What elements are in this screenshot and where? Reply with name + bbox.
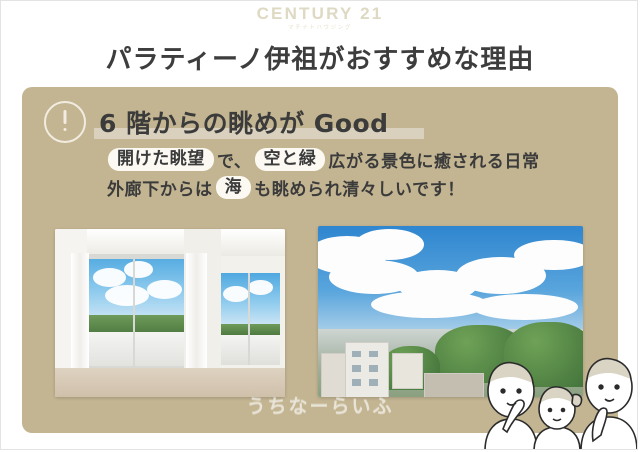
room-ceiling: [55, 229, 285, 256]
child-eye-right: [561, 408, 566, 413]
window-left: [87, 254, 184, 372]
copy-pill: 開けた眺望: [108, 148, 214, 171]
mother-figure: [581, 359, 637, 450]
brand-logo: CENTURY 21 マチナトハウジング: [1, 5, 638, 32]
cloud: [147, 280, 182, 299]
copy-text: 外廊下からは: [106, 175, 214, 200]
mother-eye-right: [614, 384, 619, 389]
card-copy: 開けた眺望で、空と緑広がる景色に癒される日常 外廊下からは海も眺められ清々しいで…: [106, 145, 541, 201]
room-floor: [55, 368, 285, 397]
copy-text: で、: [216, 147, 253, 172]
slide-frame: CENTURY 21 マチナトハウジング パラティーノ伊祖がおすすめな理由 6 …: [0, 0, 638, 450]
window-right-balcony-rail: [221, 335, 281, 365]
child-figure: [534, 387, 582, 450]
father-eye-right: [516, 388, 521, 393]
copy-pill: 空と緑: [255, 148, 326, 171]
card-headline: 6 階からの眺めが Good: [99, 104, 389, 140]
father-figure: [485, 363, 537, 450]
copy-pill: 海: [216, 176, 252, 199]
family-illustration: [481, 333, 638, 450]
cloud: [355, 229, 424, 260]
child-eye-left: [548, 408, 553, 413]
copy-text: 広がる景色に癒される日常: [327, 147, 540, 172]
window-right-trees: [221, 324, 281, 335]
cloud: [248, 280, 273, 295]
building: [392, 353, 423, 389]
building: [345, 342, 389, 397]
building: [424, 373, 484, 397]
cloud: [371, 291, 488, 318]
headline-wrap: 6 階からの眺めが Good: [99, 104, 389, 140]
building: [321, 353, 347, 397]
copy-line-2: 外廊下からは海も眺められ清々しいです！: [106, 173, 541, 201]
brand-name: CENTURY 21: [1, 5, 638, 22]
cloud: [93, 268, 126, 287]
window-frame-top: [87, 254, 184, 259]
cloud: [124, 261, 153, 277]
window-right: [221, 273, 281, 365]
room-photo-art: [55, 229, 285, 397]
room-interior-photo: [55, 229, 285, 397]
curtain-left: [71, 253, 89, 374]
headline-row: 6 階からの眺めが Good: [44, 101, 389, 143]
cloud: [105, 285, 149, 306]
page-title: パラティーノ伊祖がおすすめな理由: [1, 39, 638, 76]
brand-subtitle: マチナトハウジング: [1, 26, 638, 32]
window-mullion: [133, 254, 136, 372]
curtain-right: [186, 253, 207, 374]
window-mullion: [248, 273, 250, 365]
cloud: [472, 294, 578, 320]
mother-eye-left: [598, 384, 603, 389]
copy-line-1: 開けた眺望で、空と緑広がる景色に癒される日常: [106, 145, 541, 173]
exclamation-circle-icon: [44, 101, 86, 143]
copy-text: も眺められ清々しいです！: [253, 175, 466, 200]
father-eye-left: [500, 388, 505, 393]
